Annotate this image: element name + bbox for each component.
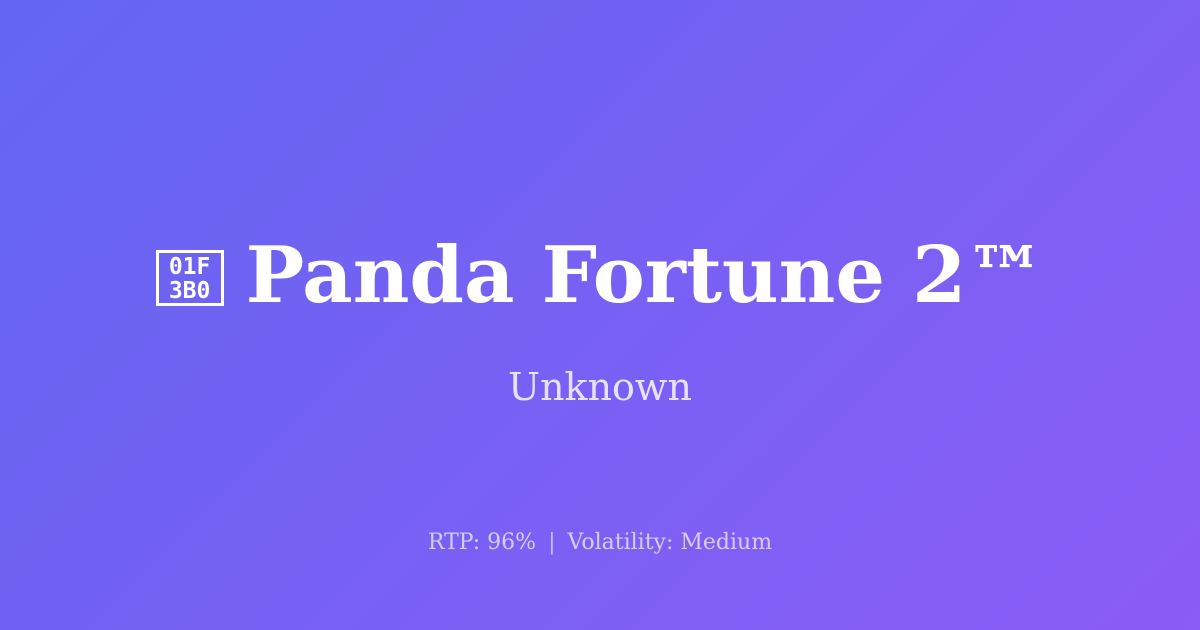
volatility-value: Volatility: Medium — [568, 530, 773, 555]
title-row: 01F 3B0 Panda Fortune 2™ — [0, 228, 1200, 324]
game-og-card: 01F 3B0 Panda Fortune 2™ Unknown RTP: 96… — [0, 0, 1200, 630]
rtp-value: RTP: 96% — [428, 530, 536, 555]
slot-machine-emoji: 01F 3B0 — [156, 250, 224, 306]
game-title: Panda Fortune 2™ — [246, 231, 1045, 321]
game-provider: Unknown — [0, 360, 1200, 414]
stats-separator: | — [543, 530, 560, 555]
emoji-codepoint-top: 01F — [169, 255, 211, 279]
game-stats: RTP: 96% | Volatility: Medium — [0, 528, 1200, 558]
emoji-codepoint-bottom: 3B0 — [169, 279, 211, 303]
